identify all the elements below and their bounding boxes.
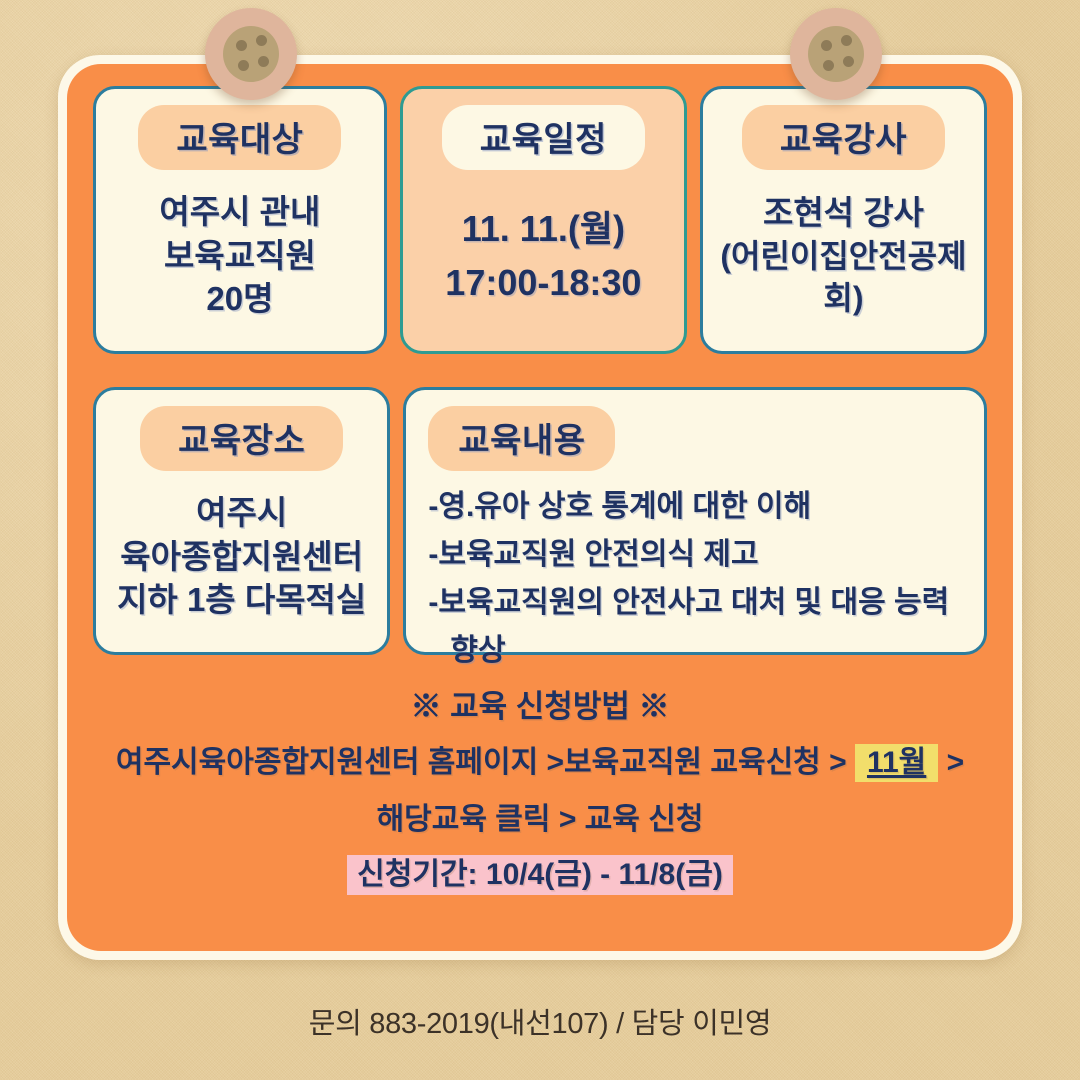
place-line-2: 육아종합지원센터: [117, 535, 366, 579]
application-method-section: ※ 교육 신청방법 ※ 여주시육아종합지원센터 홈페이지 >보육교직원 교육신청…: [93, 681, 987, 893]
card-education-target: 교육대상 여주시 관내 보육교직원 20명: [93, 86, 387, 354]
card-education-schedule: 교육일정 11. 11.(월) 17:00-18:30: [400, 86, 687, 354]
button-hole: [843, 56, 854, 67]
content-bullet-3-continued: 향상: [428, 629, 949, 673]
card-body-education-target: 여주시 관내 보육교직원 20명: [159, 190, 320, 322]
application-method-title: ※ 교육 신청방법 ※: [93, 681, 987, 726]
application-period-highlight: 신청기간: 10/4(금) - 11/8(금): [347, 855, 733, 895]
card-label-education-target: 교육대상: [138, 105, 341, 170]
target-line-1: 여주시 관내: [159, 190, 320, 234]
card-body-education-instructor: 조현석 강사 (어린이집안전공제회): [713, 191, 974, 320]
card-row-bottom: 교육장소 여주시 육아종합지원센터 지하 1층 다목적실 교육내용 -영.유아 …: [93, 387, 987, 655]
instructor-affiliation: (어린이집안전공제회): [713, 235, 974, 320]
card-label-education-instructor: 교육강사: [742, 105, 945, 170]
card-label-education-schedule: 교육일정: [442, 105, 645, 170]
application-step-suffix: >: [938, 746, 964, 779]
education-content-list: -영.유아 상호 통계에 대한 이해 -보육교직원 안전의식 제고 -보육교직원…: [428, 485, 949, 677]
instructor-name: 조현석 강사: [713, 191, 974, 235]
card-label-education-content: 교육내용: [428, 406, 615, 471]
application-step-prefix: 여주시육아종합지원센터 홈페이지 >보육교직원 교육신청 >: [116, 746, 855, 779]
card-body-education-schedule: 11. 11.(월) 17:00-18:30: [445, 202, 641, 310]
place-line-1: 여주시: [117, 491, 366, 535]
button-inner-circle: [808, 26, 864, 82]
button-hole: [256, 35, 267, 46]
button-hole: [258, 56, 269, 67]
place-line-3: 지하 1층 다목적실: [117, 578, 366, 622]
schedule-date: 11. 11.(월): [445, 202, 641, 256]
schedule-time: 17:00-18:30: [445, 256, 641, 310]
button-hole: [238, 60, 249, 71]
button-hole: [236, 40, 247, 51]
application-step-line-2: 해당교육 클릭 > 교육 신청: [93, 794, 987, 838]
content-bullet-1: -영.유아 상호 통계에 대한 이해: [428, 485, 949, 529]
card-label-education-place: 교육장소: [140, 406, 343, 471]
content-bullet-3: -보육교직원의 안전사고 대처 및 대응 능력: [428, 581, 949, 625]
button-decoration-icon: [790, 8, 882, 100]
card-row-top: 교육대상 여주시 관내 보육교직원 20명 교육일정 11. 11.(월) 17…: [93, 86, 987, 354]
poster-panel-inner: 교육대상 여주시 관내 보육교직원 20명 교육일정 11. 11.(월) 17…: [67, 64, 1013, 951]
button-inner-circle: [223, 26, 279, 82]
card-education-place: 교육장소 여주시 육아종합지원센터 지하 1층 다목적실: [93, 387, 390, 655]
application-month-highlight: 11월: [855, 744, 938, 782]
application-period-row: 신청기간: 10/4(금) - 11/8(금): [93, 849, 987, 893]
application-step-line-1: 여주시육아종합지원센터 홈페이지 >보육교직원 교육신청 > 11월 >: [93, 737, 987, 781]
button-hole: [841, 35, 852, 46]
content-bullet-2: -보육교직원 안전의식 제고: [428, 533, 949, 577]
card-education-instructor: 교육강사 조현석 강사 (어린이집안전공제회): [700, 86, 987, 354]
contact-footer: 문의 883-2019(내선107) / 담당 이민영: [0, 1000, 1080, 1042]
button-hole: [823, 60, 834, 71]
button-decoration-icon: [205, 8, 297, 100]
poster-panel: 교육대상 여주시 관내 보육교직원 20명 교육일정 11. 11.(월) 17…: [58, 55, 1022, 960]
target-line-3: 20명: [159, 277, 320, 321]
button-hole: [821, 40, 832, 51]
target-line-2: 보육교직원: [159, 234, 320, 278]
card-body-education-place: 여주시 육아종합지원센터 지하 1층 다목적실: [117, 491, 366, 623]
card-education-content: 교육내용 -영.유아 상호 통계에 대한 이해 -보육교직원 안전의식 제고 -…: [403, 387, 987, 655]
